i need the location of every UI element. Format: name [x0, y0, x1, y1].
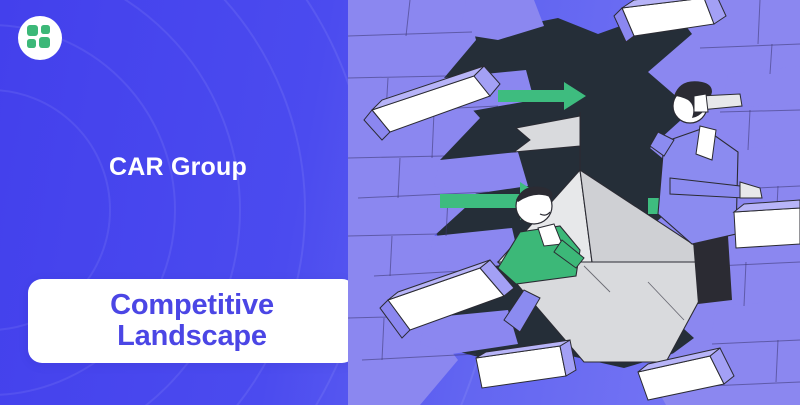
grid-logo-icon — [27, 25, 53, 51]
headline-line-2: Landscape — [110, 321, 274, 352]
headline-text: Competitive Landscape — [110, 290, 274, 353]
car-group-logo[interactable] — [18, 16, 62, 60]
slide-canvas: CAR Group Competitive Landscape — [0, 0, 800, 405]
headline-line-1: Competitive — [110, 290, 274, 321]
illustration — [348, 0, 800, 405]
page-title: CAR Group — [0, 153, 356, 182]
headline-card: Competitive Landscape — [28, 279, 356, 363]
illustration-artwork — [348, 0, 800, 405]
